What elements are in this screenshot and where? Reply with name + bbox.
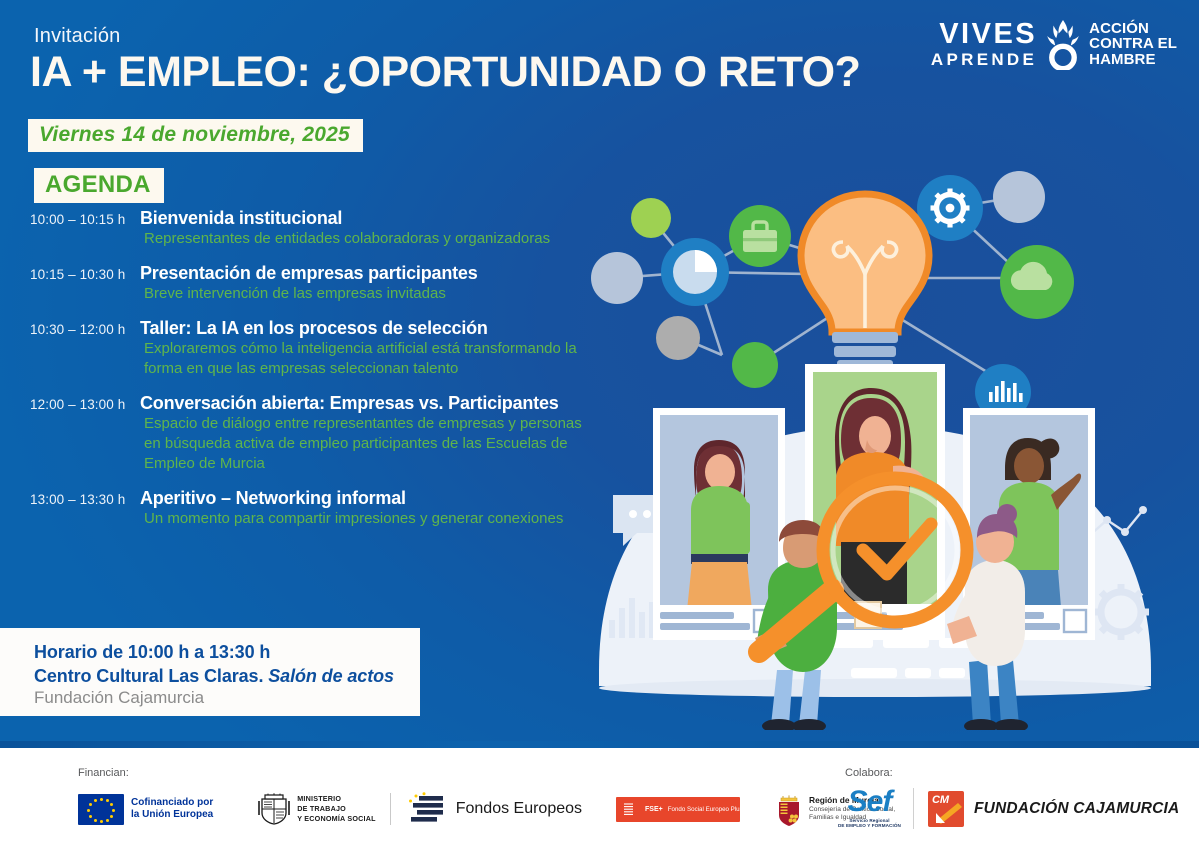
agenda-item-title: Conversación abierta: Empresas vs. Parti… xyxy=(140,393,559,414)
cajamurcia-name: FUNDACIÓN CAJAMURCIA xyxy=(974,800,1180,818)
sef-sub-line-2: DE EMPLEO Y FORMACIÓN xyxy=(838,823,901,829)
eu-flag-icon xyxy=(78,794,124,825)
fse-plus-tag: FSE+ xyxy=(645,806,663,813)
agenda-item-description: Espacio de diálogo entre representantes … xyxy=(144,414,584,474)
agenda-item-description: Un momento para compartir impresiones y … xyxy=(144,509,584,529)
fse-eu-flag-icon xyxy=(622,802,635,817)
lightbulb-icon xyxy=(801,194,929,392)
venue-place-name: Centro Cultural Las Claras. xyxy=(34,666,263,686)
spain-coat-of-arms-icon xyxy=(257,793,291,825)
collaborator-logo-row: Sef Servicio Regional DE EMPLEO Y FORMAC… xyxy=(838,788,1179,829)
agenda-item-time: 12:00 – 13:00 h xyxy=(30,397,138,412)
fundacion-cajamurcia-logo: CM FUNDACIÓN CAJAMURCIA xyxy=(928,791,1180,827)
agenda-item-time: 10:00 – 10:15 h xyxy=(30,212,138,227)
agenda-item-title: Aperitivo – Networking informal xyxy=(140,488,406,509)
agenda-item-description: Breve intervención de las empresas invit… xyxy=(144,284,584,304)
page-title: IA + EMPLEO: ¿OPORTUNIDAD O RETO? xyxy=(30,48,860,97)
venue-room: Salón de actos xyxy=(268,666,394,686)
event-illustration xyxy=(555,150,1195,730)
eu-logo-text: Cofinanciado por la Unión Europea xyxy=(131,797,213,821)
kicker-invitacion: Invitación xyxy=(34,25,121,48)
venue-place: Centro Cultural Las Claras. Salón de act… xyxy=(34,666,420,687)
brand-logo-vives-accion-contra-el-hambre: VIVES APRENDE ACCIÓN CONTRA EL xyxy=(931,18,1177,70)
poster-root: Invitación IA + EMPLEO: ¿OPORTUNIDAD O R… xyxy=(0,0,1199,848)
node-gray xyxy=(656,316,700,360)
node-grayblue-right xyxy=(993,171,1045,223)
collaborators-label: Colabora: xyxy=(845,767,893,779)
accion-contra-el-hambre-wordmark: ACCIÓN CONTRA EL HAMBRE xyxy=(1089,21,1177,68)
illustration-svg xyxy=(555,150,1195,730)
node-green-small xyxy=(732,342,778,388)
gear-icon xyxy=(931,189,970,228)
drop-leaf-icon xyxy=(1044,18,1082,70)
aprende-text: APRENDE xyxy=(931,51,1037,68)
venue-info-box: Horario de 10:00 h a 13:30 h Centro Cult… xyxy=(0,628,420,716)
event-date-badge: Viernes 14 de noviembre, 2025 xyxy=(28,119,363,152)
agenda-item-description: Exploraremos cómo la inteligencia artifi… xyxy=(144,339,584,379)
sef-logo: Sef Servicio Regional DE EMPLEO Y FORMAC… xyxy=(838,788,914,829)
agenda-item-title: Bienvenida institucional xyxy=(140,208,342,229)
accion-line-2: CONTRA EL xyxy=(1089,36,1177,52)
agenda-item-description: Representantes de entidades colaboradora… xyxy=(144,229,584,249)
financiers-label: Financian: xyxy=(78,767,129,779)
cajamurcia-mark-icon: CM xyxy=(928,791,964,827)
ministerio-line-3: Y ECONOMÍA SOCIAL xyxy=(297,814,375,824)
ministerio-line-1: MINISTERIO xyxy=(297,794,375,804)
ministerio-logo-text: MINISTERIO DE TRABAJO Y ECONOMÍA SOCIAL xyxy=(297,794,375,823)
agenda-list: 10:00 – 10:15 h Bienvenida institucional… xyxy=(30,208,590,543)
eu-text-line-1: Cofinanciado por xyxy=(131,797,213,809)
agenda-item: 13:00 – 13:30 h Aperitivo – Networking i… xyxy=(30,488,590,529)
agenda-item-time: 13:00 – 13:30 h xyxy=(30,492,138,507)
candidate-card-left xyxy=(653,408,785,640)
agenda-item-title: Presentación de empresas participantes xyxy=(140,263,478,284)
sef-subtitle: Servicio Regional DE EMPLEO Y FORMACIÓN xyxy=(838,818,901,830)
murcia-coat-of-arms-icon xyxy=(776,793,802,826)
financier-logo-row: Cofinanciado por la Unión Europea xyxy=(78,792,895,826)
sef-wordmark: Sef xyxy=(838,788,901,817)
accion-line-1: ACCIÓN xyxy=(1089,21,1177,37)
agenda-item-title: Taller: La IA en los procesos de selecci… xyxy=(140,318,488,339)
fse-plus-name: Fondo Social Europeo Plus xyxy=(668,806,743,813)
ministerio-line-2: DE TRABAJO xyxy=(297,804,375,814)
fondos-europeos-mark-icon xyxy=(407,792,447,826)
fse-plus-logo: FSE+ Fondo Social Europeo Plus xyxy=(616,797,740,822)
venue-schedule: Horario de 10:00 h a 13:30 h xyxy=(34,642,420,663)
agenda-item: 12:00 – 13:00 h Conversación abierta: Em… xyxy=(30,393,590,474)
node-lightgreen xyxy=(631,198,671,238)
vives-text: VIVES xyxy=(931,20,1037,49)
pie-chart-icon xyxy=(673,250,717,294)
fondos-europeos-logo: Fondos Europeos xyxy=(407,792,582,826)
agenda-item-time: 10:30 – 12:00 h xyxy=(30,322,138,337)
agenda-item: 10:15 – 10:30 h Presentación de empresas… xyxy=(30,263,590,304)
fondos-europeos-text: Fondos Europeos xyxy=(456,800,582,818)
ministerio-trabajo-logo: MINISTERIO DE TRABAJO Y ECONOMÍA SOCIAL xyxy=(257,793,390,825)
footer-logos-band: Financian: Colabora: xyxy=(0,748,1199,848)
agenda-item-time: 10:15 – 10:30 h xyxy=(30,267,138,282)
agenda-item: 10:00 – 10:15 h Bienvenida institucional… xyxy=(30,208,590,249)
venue-organization: Fundación Cajamurcia xyxy=(34,688,420,708)
european-union-logo: Cofinanciado por la Unión Europea xyxy=(78,794,213,825)
blue-background-panel: Invitación IA + EMPLEO: ¿OPORTUNIDAD O R… xyxy=(0,0,1199,748)
agenda-heading-badge: AGENDA xyxy=(34,168,164,203)
accion-line-3: HAMBRE xyxy=(1089,52,1177,68)
eu-text-line-2: la Unión Europea xyxy=(131,809,213,821)
agenda-item: 10:30 – 12:00 h Taller: La IA en los pro… xyxy=(30,318,590,379)
node-grayblue-left xyxy=(591,252,643,304)
vives-aprende-wordmark: VIVES APRENDE xyxy=(931,20,1037,68)
